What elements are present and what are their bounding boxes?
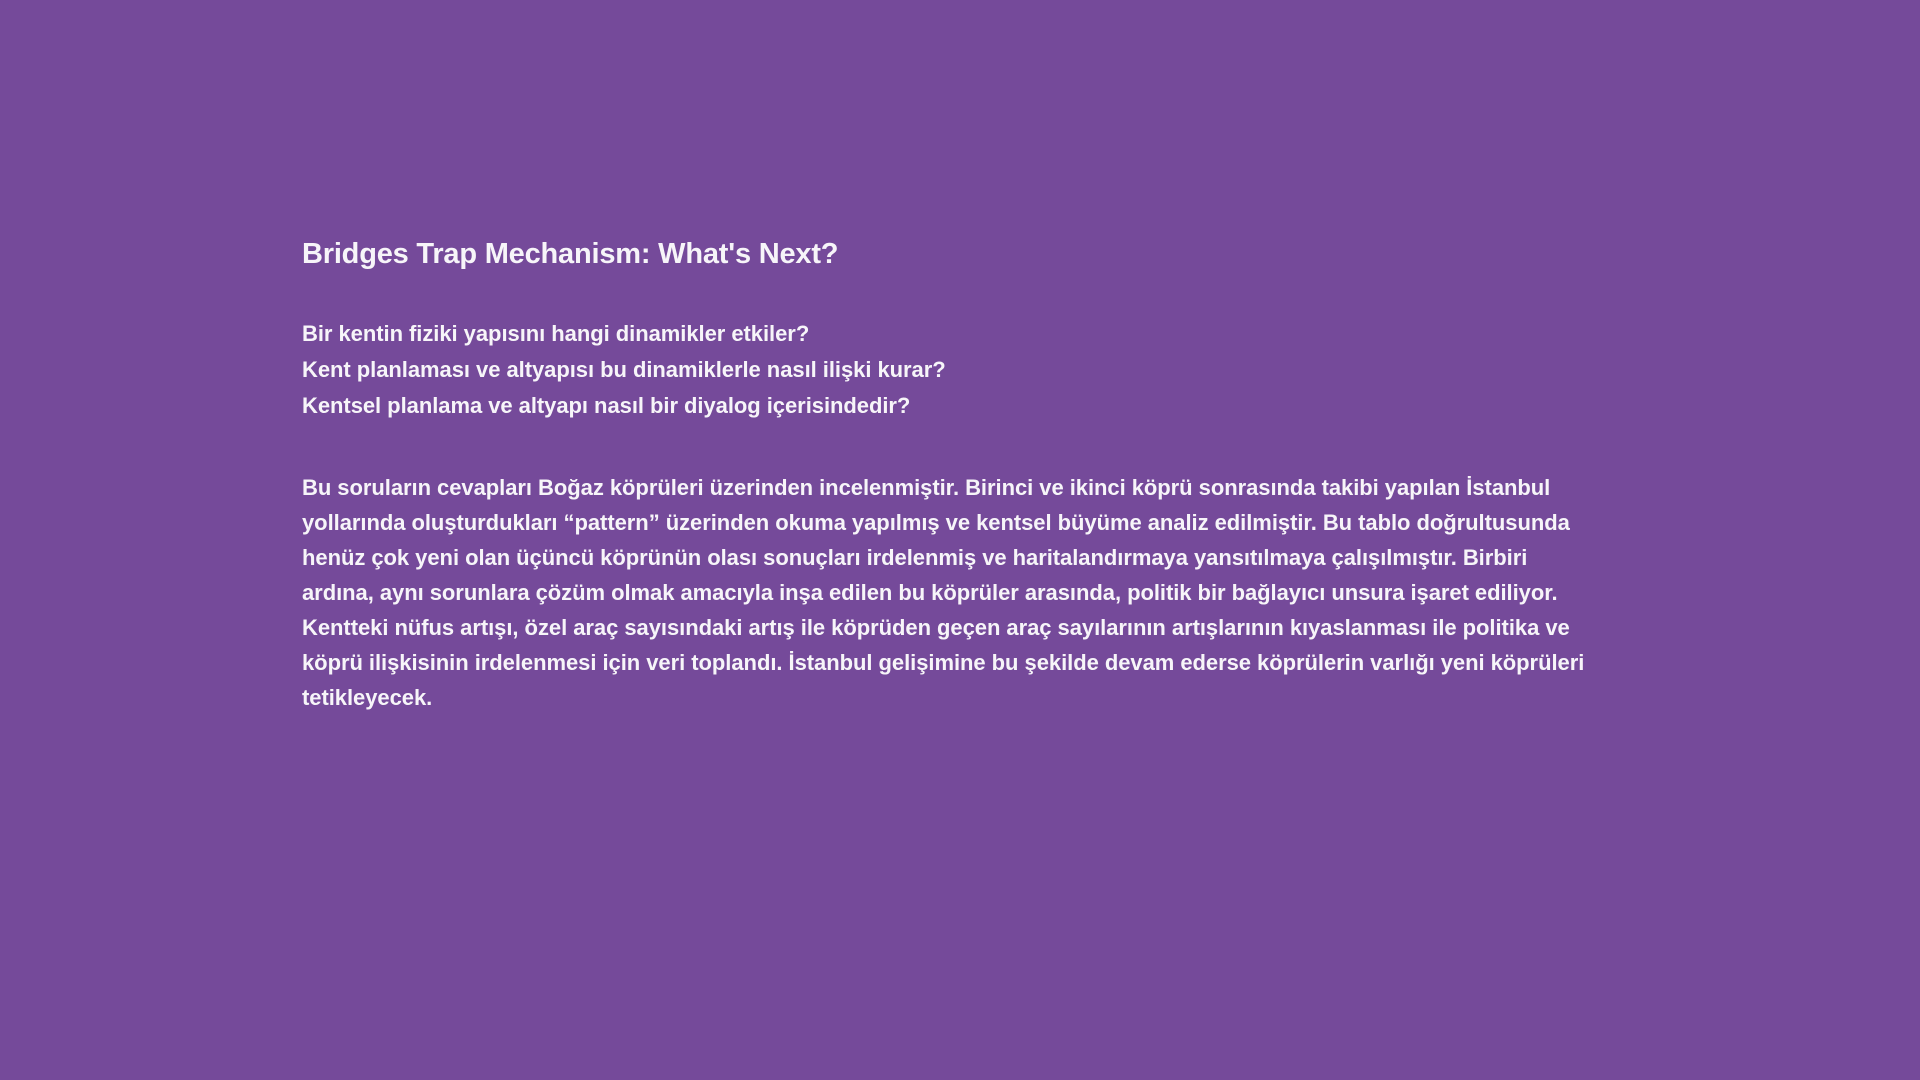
- question-line-1: Bir kentin fiziki yapısını hangi dinamik…: [302, 316, 1632, 352]
- page-title: Bridges Trap Mechanism: What's Next?: [302, 236, 1632, 272]
- question-line-2: Kent planlaması ve altyapısı bu dinamikl…: [302, 352, 1632, 388]
- questions-block: Bir kentin fiziki yapısını hangi dinamik…: [302, 316, 1632, 424]
- body-paragraph: Bu soruların cevapları Boğaz köprüleri ü…: [302, 470, 1602, 715]
- slide-content-block: Bridges Trap Mechanism: What's Next? Bir…: [302, 236, 1632, 715]
- question-line-3: Kentsel planlama ve altyapı nasıl bir di…: [302, 388, 1632, 424]
- slide-canvas: Bridges Trap Mechanism: What's Next? Bir…: [0, 0, 1920, 1080]
